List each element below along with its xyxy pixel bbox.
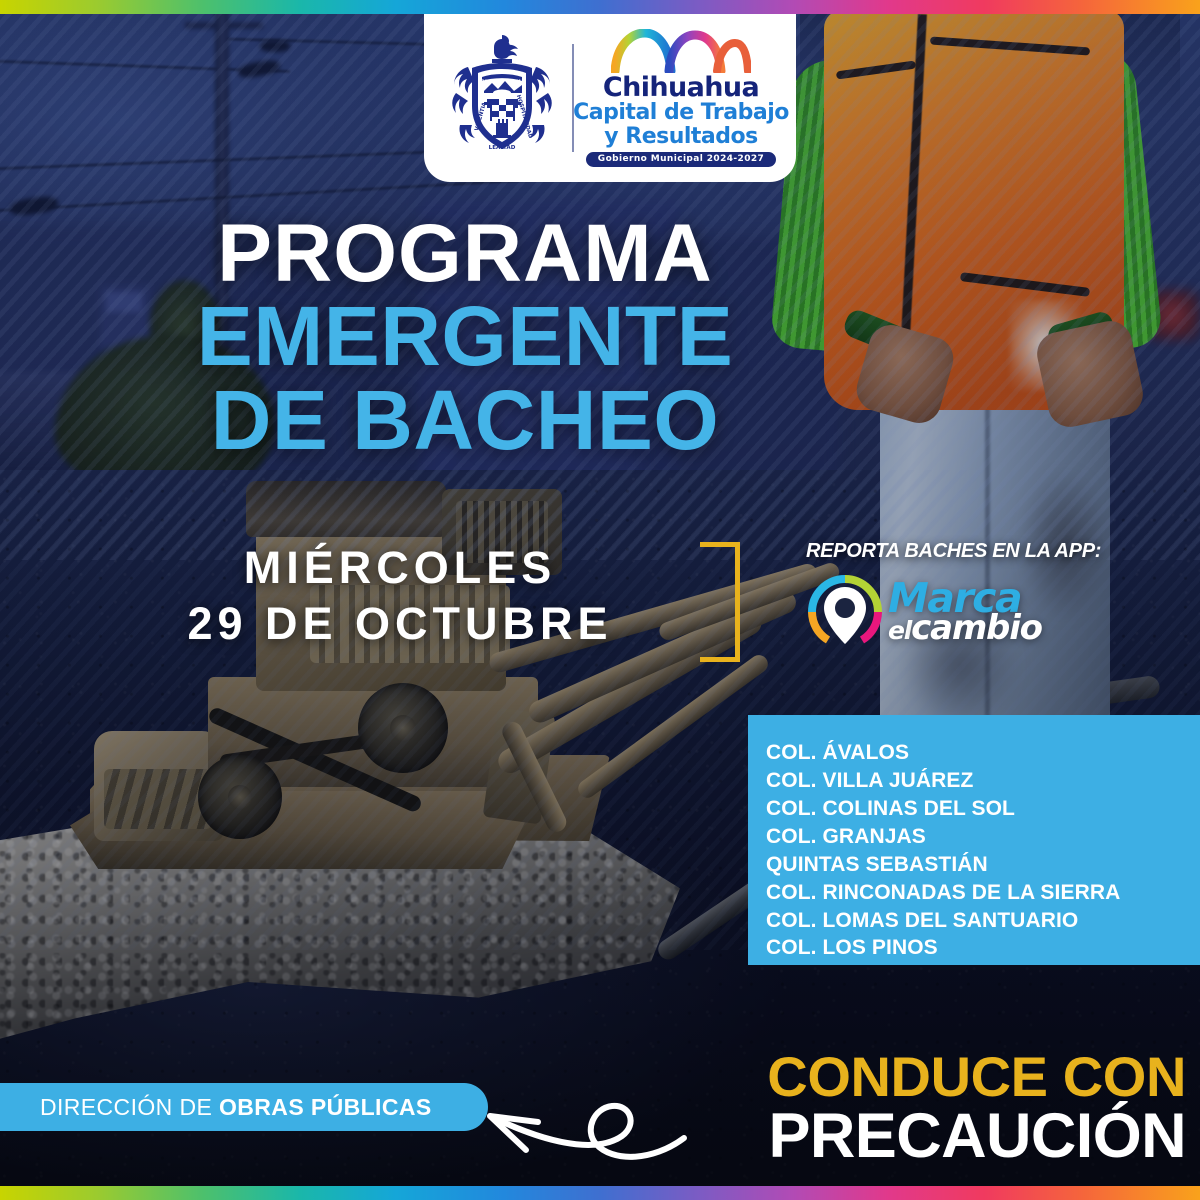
list-item: COL. GRANJAS bbox=[766, 823, 1200, 851]
gold-bracket-decoration bbox=[700, 542, 740, 662]
rainbow-bar-bottom bbox=[0, 1186, 1200, 1200]
department-prefix: DIRECCIÓN DE bbox=[40, 1094, 219, 1120]
title-line-2: EMERGENTE bbox=[0, 294, 930, 378]
svg-text:LEALTAD: LEALTAD bbox=[489, 145, 516, 151]
app-name-line-2: elcambio bbox=[888, 613, 1042, 644]
list-item: COL. COLINAS DEL SOL bbox=[766, 795, 1200, 823]
brand-tagline: Gobierno Municipal 2024-2027 bbox=[586, 152, 776, 167]
title-line-1: PROGRAMA bbox=[0, 214, 930, 294]
department-name: OBRAS PÚBLICAS bbox=[219, 1094, 432, 1120]
street-lamp-2 bbox=[237, 58, 281, 79]
event-date: MIÉRCOLES 29 DE OCTUBRE bbox=[0, 540, 800, 653]
marca-el-cambio-logo[interactable]: Marca elcambio bbox=[806, 573, 1116, 651]
worker-hand-right bbox=[1033, 317, 1147, 431]
engine-top-cover bbox=[246, 481, 446, 537]
app-name-el: el bbox=[888, 616, 911, 645]
street-lamp-3 bbox=[260, 40, 290, 52]
pulley-small-hub bbox=[228, 785, 252, 809]
list-item: COL. ÁVALOS bbox=[766, 739, 1200, 767]
chihuahua-coat-of-arms-icon: SI VAL RBCH VALENTIA HOSPITALIDAD LEALT bbox=[446, 33, 558, 163]
rainbow-bar-top bbox=[0, 0, 1200, 14]
plate-compactor-machine bbox=[60, 455, 780, 885]
brand-line-1: Chihuahua bbox=[603, 74, 759, 101]
pulley-large-hub bbox=[390, 715, 416, 741]
poster-title: PROGRAMA EMERGENTE DE BACHEO bbox=[0, 214, 930, 462]
government-logo-card: SI VAL RBCH VALENTIA HOSPITALIDAD LEALT bbox=[424, 14, 796, 182]
date-weekday: MIÉRCOLES bbox=[0, 540, 800, 596]
colonias-list-box: COL. ÁVALOS COL. VILLA JUÁREZ COL. COLIN… bbox=[748, 715, 1200, 965]
list-item: COL. LOS PINOS bbox=[766, 934, 1200, 962]
curly-arrow-icon bbox=[452, 1066, 702, 1176]
marca-el-cambio-wordmark: Marca elcambio bbox=[888, 580, 1042, 643]
list-item: COL. VILLA JUÁREZ bbox=[766, 767, 1200, 795]
list-item: COL. RINCONADAS DE LA SIERRA bbox=[766, 879, 1200, 907]
list-item: QUINTAS SEBASTIÁN bbox=[766, 851, 1200, 879]
list-item: COL. LOMAS DEL SANTUARIO bbox=[766, 907, 1200, 935]
brand-line-2: Capital de Trabajo bbox=[573, 101, 789, 124]
location-pin-icon bbox=[806, 573, 884, 651]
date-day-month: 29 DE OCTUBRE bbox=[0, 596, 800, 652]
app-name-cambio: cambio bbox=[911, 608, 1042, 648]
chihuahua-waves-icon bbox=[611, 29, 751, 73]
app-promo: REPORTA BACHES EN LA APP: Marca elcambio bbox=[806, 540, 1116, 651]
department-banner: DIRECCIÓN DE OBRAS PÚBLICAS bbox=[0, 1083, 488, 1131]
department-label: DIRECCIÓN DE OBRAS PÚBLICAS bbox=[40, 1094, 432, 1121]
brand-line-3: y Resultados bbox=[604, 125, 757, 148]
logo-divider bbox=[572, 44, 574, 152]
app-promo-heading: REPORTA BACHES EN LA APP: bbox=[806, 540, 1116, 563]
chihuahua-brand-block: Chihuahua Capital de Trabajo y Resultado… bbox=[588, 29, 774, 167]
title-line-3: DE BACHEO bbox=[0, 378, 930, 462]
caution-line-1: CONDUCE CON bbox=[767, 1048, 1186, 1105]
poster-canvas: SI VAL RBCH VALENTIA HOSPITALIDAD LEALT bbox=[0, 0, 1200, 1200]
caution-message: CONDUCE CON PRECAUCIÓN bbox=[767, 1048, 1186, 1168]
caution-line-2: PRECAUCIÓN bbox=[767, 1105, 1186, 1168]
compactor-drum-ribs bbox=[104, 769, 212, 829]
